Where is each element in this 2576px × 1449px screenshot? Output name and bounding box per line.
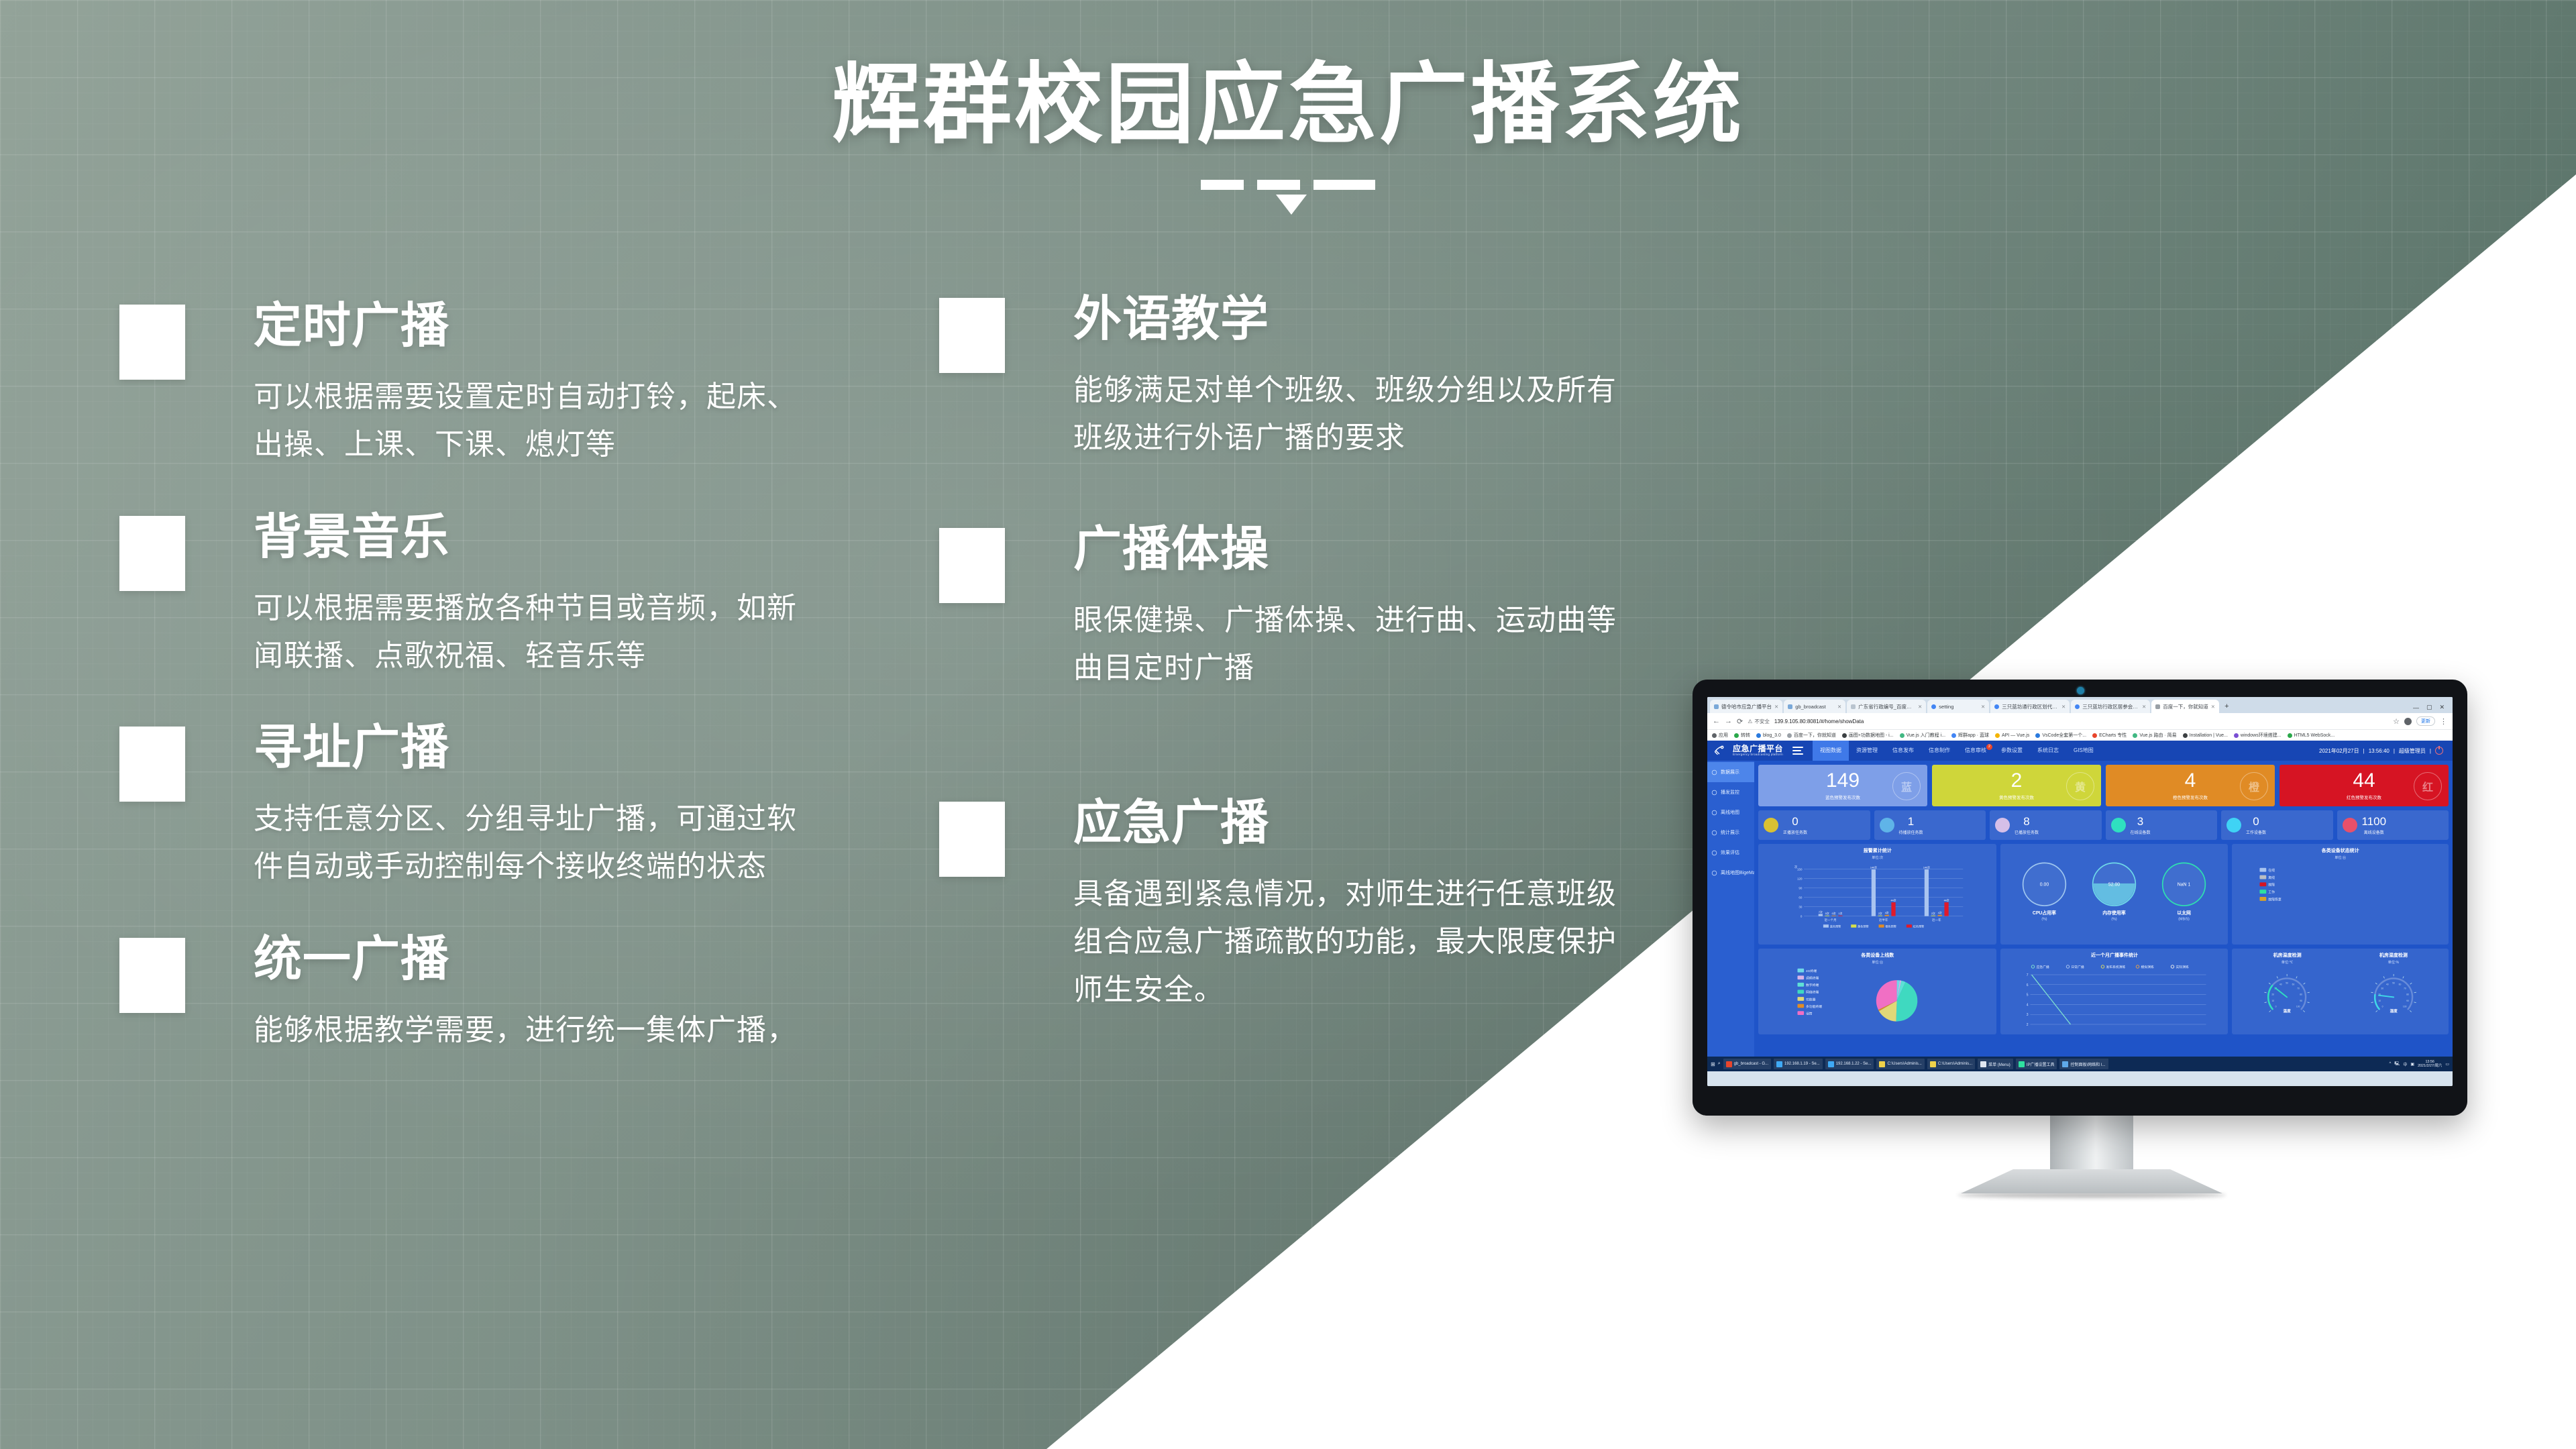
svg-text:(%): (%)	[2042, 917, 2047, 921]
bookmark-item[interactable]: 应用	[1712, 732, 1728, 739]
bookmark-favicon-icon	[1734, 733, 1739, 738]
feature-item: 应急广播 具备遇到紧急情况，对师生进行任意班级组合应急广播疏散的功能，最大限度保…	[939, 792, 1711, 1014]
svg-text:5: 5	[2027, 994, 2029, 998]
windows-taskbar: ⊞ ⌕ gb_broadcast - G...192.168.1.19 - Se…	[1707, 1057, 2453, 1071]
tab-close-icon[interactable]: ✕	[2061, 704, 2065, 710]
tray-app-icon[interactable]: ▣	[2410, 1062, 2414, 1067]
bullet-square-icon	[939, 298, 1005, 373]
ime-indicator[interactable]: 中	[2403, 1061, 2407, 1067]
tab-label: 广东省行政编号_百度搜索	[1858, 703, 1915, 710]
svg-text:0: 0	[2275, 1006, 2277, 1008]
bookmark-label: Vue.js 入门教程 i...	[1907, 732, 1945, 739]
kpi-label: 红色预警发布次数	[2347, 794, 2381, 800]
svg-text:调频终端: 调频终端	[1806, 976, 1819, 981]
svg-text:80: 80	[2406, 993, 2409, 996]
tab-label: gb_broadcast	[1795, 704, 1835, 710]
power-icon[interactable]	[2435, 747, 2443, 755]
taskbar-item-icon	[1930, 1061, 1936, 1067]
search-icon[interactable]: ⌕	[1718, 1061, 1721, 1067]
svg-text:4G终端: 4G终端	[1806, 969, 1817, 973]
mini-stat-text: 3在线设备数	[2131, 816, 2151, 835]
brand-name-cn: 应急广播平台	[1733, 745, 1783, 753]
taskbar-item-label: C:\Users\Adminis...	[1938, 1062, 1972, 1066]
bookmark-label: 辉群app · 蓝球	[1958, 732, 1989, 739]
divider-triangle-icon	[1276, 195, 1307, 215]
taskbar-item-label: IP广播设置工具	[2027, 1061, 2055, 1067]
forward-icon[interactable]: →	[1725, 717, 1732, 725]
svg-text:离线: 离线	[2269, 875, 2275, 880]
bookmark-label: Vue.js 路由 · 简易	[2139, 732, 2176, 739]
monitor-icon	[2111, 818, 2126, 833]
browser-tab[interactable]: 德令哈市应急广播平台 ✕	[1710, 700, 1782, 713]
clock-date: 2021/2/27/周六	[2418, 1064, 2442, 1068]
svg-text:2次: 2次	[1931, 912, 1935, 915]
svg-text:湿度: 湿度	[2390, 1008, 2398, 1014]
bar-chart-icon	[1711, 769, 1717, 775]
tab-label: 百度一下，你就知道	[2163, 703, 2208, 710]
hourglass-icon	[1880, 818, 1894, 833]
svg-text:日常广播: 日常广播	[2072, 965, 2084, 969]
mini-stat-label: 正播放任务数	[1783, 829, 1807, 835]
taskbar-item-icon	[1828, 1061, 1834, 1067]
svg-text:10: 10	[2272, 1000, 2275, 1002]
taskbar-item-label: 192.168.1.22 - Se...	[1836, 1062, 1872, 1066]
browser-tab[interactable]: gb_broadcast ✕	[1784, 700, 1845, 713]
nav-item[interactable]: 信息制作	[1921, 741, 1957, 761]
taskbar-item[interactable]: C:\Users\Adminis...	[1876, 1059, 1924, 1069]
update-button[interactable]: 更新	[2416, 716, 2435, 726]
feature-column-left: 定时广播 可以根据需要设置定时自动打铃，起床、出操、上课、下课、熄灯等 背景音乐…	[119, 295, 871, 1091]
svg-text:2: 2	[2027, 1023, 2029, 1027]
bookmark-favicon-icon	[1712, 733, 1717, 738]
bookmark-favicon-icon	[2133, 733, 2137, 738]
mini-stat-label: 待播放任务数	[1899, 829, 1923, 835]
svg-text:故障: 故障	[2269, 883, 2275, 888]
nav-item[interactable]: GIS地图	[2066, 741, 2101, 761]
svg-text:0次: 0次	[1825, 912, 1829, 915]
bookmark-item[interactable]: API — Vue.js	[1995, 733, 2029, 738]
nav-item[interactable]: 系统日志	[2030, 741, 2066, 761]
svg-text:0次: 0次	[1832, 912, 1836, 915]
browser-tab[interactable]: setting ✕	[1927, 700, 1989, 713]
svg-text:50: 50	[2392, 982, 2395, 985]
bullet-square-icon	[119, 938, 185, 1013]
taskbar-item[interactable]: IP广播设置工具	[2016, 1059, 2057, 1069]
month-events-panel: 近一个月广播事件统计 234567应急广播日常广播发布系统演练模拟演练实际演练	[2000, 949, 2228, 1034]
kpi-card[interactable]: 4橙色预警发布次数橙	[2106, 765, 2275, 806]
svg-text:149次: 149次	[1870, 865, 1877, 869]
divider-dash-2	[1257, 180, 1300, 190]
bookmark-favicon-icon	[2092, 733, 2097, 738]
browser-tab[interactable]: 广东省行政编号_百度搜索 ✕	[1847, 700, 1926, 713]
svg-text:4次: 4次	[1885, 911, 1889, 914]
svg-text:(MB/S): (MB/S)	[2179, 917, 2190, 921]
bookmark-label: 转转	[1741, 732, 1750, 739]
bookmark-favicon-icon	[1900, 733, 1904, 738]
feature-title: 寻址广播	[254, 717, 871, 777]
panel-title: 报警累计统计	[1762, 847, 1993, 854]
svg-text:52.00: 52.00	[2108, 882, 2120, 887]
nav-item[interactable]: 视图数据	[1813, 741, 1849, 761]
favicon-icon	[1714, 704, 1719, 709]
security-label: 不安全	[1754, 718, 1770, 725]
svg-text:故障恢复: 故障恢复	[2269, 897, 2282, 902]
svg-text:0: 0	[2381, 1006, 2383, 1008]
svg-text:(%): (%)	[2112, 917, 2117, 921]
favicon-icon	[1788, 704, 1792, 709]
sidebar-item-label: 播发监控	[1721, 789, 1739, 796]
tray-expand-icon[interactable]: ^	[2390, 1062, 2392, 1066]
panel-row-top: 报警累计统计 单位:次 次03060901201507次0次0次1次近一个月14…	[1758, 844, 2449, 945]
feature-title: 应急广播	[1073, 792, 1711, 853]
address-bar-url[interactable]: 139.9.105.80:8081/#/home/showData	[1774, 718, 1864, 724]
svg-text:网络终端: 网络终端	[1806, 990, 1819, 995]
mini-stat-value: 8	[2023, 816, 2029, 827]
notifications-icon[interactable]: ▭	[2445, 1062, 2449, 1067]
feature-description: 能够根据教学需要，进行统一集体广播，	[254, 1006, 810, 1054]
favicon-icon	[1851, 704, 1856, 709]
taskbar-item-label: C:\Users\Adminis...	[1887, 1062, 1921, 1066]
bookmark-item[interactable]: ECharts 专性	[2092, 732, 2127, 739]
feature-item: 背景音乐 可以根据需要播放各种节目或音频，如新闻联播、点歌祝福、轻音乐等	[119, 506, 871, 680]
browser-menu-icon[interactable]: ⋮	[2440, 717, 2447, 726]
browser-tab[interactable]: 三只蓝坊行政区居参会行政区划 ✕	[2071, 700, 2150, 713]
back-icon[interactable]: ←	[1713, 717, 1720, 725]
taskbar-item[interactable]: C:\Users\Adminis...	[1927, 1059, 1975, 1069]
svg-text:60: 60	[2292, 983, 2295, 986]
browser-tab[interactable]: 三只蓝坊通行政区划代码 三元素 ✕	[1990, 700, 2070, 713]
feature-title: 背景音乐	[254, 506, 871, 567]
mini-stat-card[interactable]: 1待播放任务数	[1874, 810, 1986, 840]
tab-close-icon[interactable]: ✕	[1981, 704, 1985, 710]
sidebar-item-label: 效果评估	[1721, 849, 1739, 856]
bookmark-label: API — Vue.js	[2002, 733, 2029, 738]
svg-text:90: 90	[2406, 1000, 2409, 1002]
feature-item: 定时广播 可以根据需要设置定时自动打铃，起床、出操、上课、下课、熄灯等	[119, 295, 871, 469]
svg-text:30: 30	[1799, 905, 1802, 908]
kpi-card[interactable]: 44红色预警发布次数红	[2279, 765, 2449, 806]
current-date: 2021年02月27日	[2319, 747, 2359, 755]
feature-title: 统一广播	[254, 928, 871, 989]
svg-text:7次: 7次	[1819, 910, 1823, 914]
device-status-panel: 各类设备状态统计 单位:台 在线离线故障工作故障恢复	[2232, 844, 2449, 945]
humidity-gauge: 0102030405060708090100湿度	[2342, 965, 2445, 1020]
maximize-icon[interactable]: ▢	[2426, 704, 2432, 711]
browser-tab-active[interactable]: 百度一下，你就知道 ✕	[2151, 700, 2219, 713]
feature-title: 外语教学	[1073, 288, 1711, 349]
webcam-icon	[2077, 687, 2084, 694]
browser-toolbar: ← → ⟳ ⚠ 不安全 139.9.105.80:8081/#/home/sho…	[1707, 713, 2453, 729]
svg-text:蓝色预警: 蓝色预警	[1830, 924, 1841, 928]
tab-close-icon[interactable]: ✕	[1918, 704, 1922, 710]
collapse-sidebar-icon[interactable]	[1792, 747, 1803, 755]
mini-stat-value: 0	[1792, 816, 1798, 827]
bookmark-item[interactable]: Vue.js 入门教程 i...	[1900, 732, 1945, 739]
taskbar-item[interactable]: 菜单 (Menu)	[1978, 1059, 2013, 1069]
poster-canvas: 辉群校园应急广播系统 定时广播 可以根据需要设置定时自动打铃，起床、出操、上课、…	[0, 0, 2576, 1449]
bullet-square-icon	[119, 305, 185, 380]
svg-text:近一个月: 近一个月	[1825, 918, 1837, 922]
bookmark-favicon-icon	[1951, 733, 1956, 738]
bookmark-star-icon[interactable]: ☆	[2393, 717, 2400, 726]
feature-item: 外语教学 能够满足对单个班级、班级分组以及所有班级进行外语广播的要求	[939, 288, 1711, 462]
bookmark-favicon-icon	[2035, 733, 2040, 738]
mini-stat-value: 3	[2137, 816, 2143, 827]
kpi-label: 蓝色预警发布次数	[1825, 794, 1860, 800]
svg-text:CPU占用率: CPU占用率	[2033, 910, 2056, 916]
bookmark-item[interactable]: VsCode全套第一个...	[2035, 732, 2086, 739]
mini-stat-label: 离线设备数	[2364, 829, 2384, 835]
bookmark-favicon-icon	[2183, 733, 2188, 738]
tab-close-icon[interactable]: ✕	[2211, 704, 2215, 710]
svg-text:10: 10	[2378, 1000, 2381, 1002]
tab-close-icon[interactable]: ✕	[2142, 704, 2146, 710]
device-status-pie-chart: 在线离线故障工作故障恢复	[2235, 860, 2445, 934]
svg-text:150: 150	[1797, 867, 1803, 871]
svg-text:橙色预警: 橙色预警	[1885, 924, 1896, 928]
sidebar-item[interactable]: 离线地图	[1707, 802, 1754, 822]
network-icon[interactable]: 🖳	[2394, 1061, 2400, 1067]
feature-description: 可以根据需要设置定时自动打铃，起床、出操、上课、下课、熄灯等	[254, 373, 810, 469]
panel-title: 各类设备状态统计	[2235, 847, 2445, 854]
svg-text:100: 100	[2403, 1006, 2407, 1008]
svg-text:90: 90	[1799, 886, 1802, 890]
mini-stat-text: 0正播放任务数	[1783, 816, 1807, 835]
taskbar-item-icon	[1879, 1061, 1885, 1067]
favicon-icon	[2155, 704, 2160, 709]
app-brand: 应急广播平台 Emergency broadcasting platform	[1733, 745, 1783, 756]
kpi-stamp-icon: 黄	[2066, 772, 2094, 800]
svg-text:60: 60	[1799, 896, 1802, 899]
mini-stat-text: 1100离线设备数	[2362, 816, 2387, 835]
taskbar-item[interactable]: gb_broadcast - G...	[1723, 1059, 1771, 1069]
mini-stat-label: 在线设备数	[2131, 829, 2151, 835]
sidebar-item[interactable]: 效果评估	[1707, 843, 1754, 863]
bookmark-label: ECharts 专性	[2099, 732, 2127, 739]
start-icon[interactable]: ⊞	[1711, 1061, 1715, 1067]
bookmark-item[interactable]: blog_3.0	[1756, 733, 1781, 738]
sidebar-item[interactable]: 离线地图BigeMap开发	[1707, 863, 1754, 883]
feature-title: 广播体操	[1073, 519, 1711, 579]
app-nav: 视图数据资源管理信息发布信息制作信息审核2参数设置系统日志GIS地图	[1813, 741, 2101, 761]
bookmark-item[interactable]: Installation | Vue...	[2183, 733, 2228, 738]
svg-text:90: 90	[2300, 1000, 2303, 1002]
taskbar-item-icon	[1726, 1061, 1732, 1067]
svg-text:60: 60	[2398, 983, 2401, 986]
svg-text:数字终端: 数字终端	[1806, 983, 1819, 987]
svg-text:应急广播: 应急广播	[2037, 965, 2049, 969]
feature-item: 统一广播 能够根据教学需要，进行统一集体广播，	[119, 928, 871, 1054]
bookmark-item[interactable]: 辉群app · 蓝球	[1951, 732, 1989, 739]
sidebar-item-label: 数据展示	[1721, 769, 1739, 775]
divider-dash-3	[1313, 180, 1375, 190]
svg-text:2次: 2次	[1878, 912, 1882, 915]
bookmark-item[interactable]: HTML5 WebSock...	[2288, 733, 2335, 738]
app-content: 149蓝色预警发布次数蓝2黄色预警发布次数黄4橙色预警发布次数橙44红色预警发布…	[1754, 761, 2453, 1071]
panel-subtitle: 单位:台	[1762, 960, 1993, 965]
reload-icon[interactable]: ⟳	[1737, 717, 1743, 726]
svg-text:红色预警: 红色预警	[1913, 924, 1925, 928]
taskbar-item[interactable]: 控制面板\网络和 I...	[2059, 1059, 2108, 1069]
svg-text:话筒: 话筒	[1806, 1011, 1813, 1016]
mini-stat-card[interactable]: 1100离线设备数	[2337, 810, 2449, 840]
taskbar-clock[interactable]: 13:56 2021/2/27/周六	[2418, 1060, 2442, 1068]
panel-title: 近一个月广播事件统计	[2004, 952, 2224, 959]
page-title: 辉群校园应急广播系统	[0, 60, 2576, 149]
kpi-value: 149	[1826, 771, 1860, 791]
sidebar-item[interactable]: 统计展示	[1707, 822, 1754, 843]
app-header: 应急广播平台 Emergency broadcasting platform 视…	[1707, 741, 2453, 761]
sidebar-item[interactable]: 数据展示	[1707, 762, 1754, 782]
panel-subtitle: 单位:台	[2235, 855, 2445, 860]
bookmark-item[interactable]: 画图+功数据地图 - i...	[1842, 732, 1894, 739]
taskbar-item-icon	[2019, 1061, 2025, 1067]
bookmark-label: VsCode全套第一个...	[2042, 732, 2086, 739]
kpi-value: 4	[2185, 771, 2196, 791]
tab-close-icon[interactable]: ✕	[1774, 704, 1778, 710]
mini-stat-value: 0	[2253, 816, 2259, 827]
camera-icon	[1711, 870, 1717, 876]
mini-stat-card[interactable]: 8已播放任务数	[1990, 810, 2102, 840]
svg-text:实际演练: 实际演练	[2176, 965, 2189, 969]
device-online-pie-chart: 4G终端调频终端数字终端网络终端功放器多功能终端话筒	[1762, 965, 1993, 1032]
bookmark-favicon-icon	[1756, 733, 1761, 738]
system-gauges-panel: 0.00CPU占用率(%)52.00内存使用率(%)NaN 1以太网(MB/S)	[2000, 844, 2228, 945]
separator: |	[2430, 748, 2431, 754]
kpi-card[interactable]: 149蓝色预警发布次数蓝	[1758, 765, 1927, 806]
bookmark-item[interactable]: 转转	[1734, 732, 1750, 739]
poster-header: 辉群校园应急广播系统	[0, 60, 2576, 200]
sidebar-item[interactable]: 播发监控	[1707, 782, 1754, 802]
bookmark-label: 画图+功数据地图 - i...	[1849, 732, 1894, 739]
svg-text:40: 40	[2386, 983, 2389, 986]
doc-check-icon	[2226, 818, 2241, 833]
svg-text:在线: 在线	[2269, 868, 2275, 873]
taskbar-item-label: 控制面板\网络和 I...	[2070, 1061, 2105, 1067]
taskbar-items: gb_broadcast - G...192.168.1.19 - Se...1…	[1723, 1059, 2108, 1069]
bookmark-label: Installation | Vue...	[2190, 733, 2228, 738]
security-indicator[interactable]: ⚠ 不安全	[1748, 718, 1770, 725]
svg-text:多功能终端: 多功能终端	[1806, 1004, 1822, 1009]
bookmark-favicon-icon	[2288, 733, 2292, 738]
svg-text:120: 120	[1797, 877, 1803, 880]
taskbar-item-label: 192.168.1.19 - Se...	[1784, 1062, 1820, 1066]
mini-stat-card[interactable]: 3在线设备数	[2106, 810, 2218, 840]
month-events-line-chart: 234567应急广播日常广播发布系统演练模拟演练实际演练	[2004, 960, 2224, 1030]
favicon-icon	[2075, 704, 2080, 709]
bookmark-item[interactable]: windows环境搭建...	[2234, 732, 2282, 739]
feature-description: 可以根据需要播放各种节目或音频，如新闻联播、点歌祝福、轻音乐等	[254, 584, 810, 680]
nav-item[interactable]: 信息发布	[1885, 741, 1921, 761]
bookmark-label: windows环境搭建...	[2241, 732, 2282, 739]
room-gauges-panel: 机房温度检测 单位:℃ 0102030405060708090100温度 机房湿…	[2232, 949, 2449, 1034]
kpi-stamp-icon: 蓝	[1892, 772, 1921, 800]
avatar[interactable]	[2404, 718, 2412, 725]
device-online-panel: 各类设备上线数 单位:台 4G终端调频终端数字终端网络终端功放器多功能终端话筒	[1758, 949, 1996, 1034]
mini-stat-value: 1100	[2362, 816, 2387, 827]
feature-description: 能够满足对单个班级、班级分组以及所有班级进行外语广播的要求	[1073, 366, 1637, 462]
taskbar-item[interactable]: 192.168.1.22 - Se...	[1825, 1059, 1874, 1069]
system-tray: ^ 🖳 中 ▣ 13:56 2021/2/27/周六 ▭	[2390, 1060, 2449, 1068]
headset-icon	[1711, 790, 1717, 796]
new-tab-button[interactable]: +	[2220, 700, 2233, 713]
bookmarks-bar: 应用转转blog_3.0百度一下，你就知道画图+功数据地图 - i...Vue.…	[1707, 729, 2453, 741]
svg-text:80: 80	[2300, 993, 2303, 996]
panel-title: 机房温度检测	[2235, 952, 2339, 959]
bullet-square-icon	[119, 516, 185, 591]
svg-text:44次: 44次	[1891, 898, 1896, 902]
bullet-square-icon	[119, 727, 185, 802]
separator: |	[2363, 748, 2365, 754]
bookmark-label: 百度一下，你就知道	[1794, 732, 1836, 739]
svg-text:工作: 工作	[2269, 890, 2275, 895]
box-icon	[1711, 830, 1717, 836]
bullet-square-icon	[939, 528, 1005, 603]
tab-label: 三只蓝坊通行政区划代码 三元素	[2002, 703, 2059, 710]
nav-item[interactable]: 资源管理	[1849, 741, 1885, 761]
taskbar-item[interactable]: 192.168.1.19 - Se...	[1774, 1059, 1823, 1069]
monitor-mockup: 德令哈市应急广播平台 ✕ gb_broadcast ✕ 广东省行政编号_百度搜索…	[1693, 680, 2491, 1283]
svg-text:黄色预警: 黄色预警	[1858, 924, 1869, 928]
bookmark-favicon-icon	[1995, 733, 2000, 738]
panel-title: 各类设备上线数	[1762, 952, 1993, 959]
mini-stat-card[interactable]: 0工作设备数	[2221, 810, 2333, 840]
panel-subtitle: 单位:℃	[2235, 960, 2339, 965]
nav-badge: 2	[1986, 744, 1992, 750]
title-divider	[1201, 180, 1375, 200]
tab-close-icon[interactable]: ✕	[1837, 704, 1841, 710]
mini-stat-label: 已播放任务数	[2015, 829, 2039, 835]
bookmark-label: 应用	[1719, 732, 1728, 739]
browser-tab-bar: 德令哈市应急广播平台 ✕ gb_broadcast ✕ 广东省行政编号_百度搜索…	[1707, 697, 2453, 713]
taskbar-item-icon	[2062, 1061, 2068, 1067]
kpi-label: 黄色预警发布次数	[1999, 794, 2034, 800]
svg-text:44次: 44次	[1944, 898, 1949, 902]
bullet-square-icon	[939, 802, 1005, 877]
bookmark-item[interactable]: 百度一下，你就知道	[1787, 732, 1836, 739]
svg-text:发布系统演练: 发布系统演练	[2106, 965, 2126, 969]
feature-description: 眼保健操、广播体操、进行曲、运动曲等曲目定时广播	[1073, 596, 1637, 692]
mini-stat-text: 1待播放任务数	[1899, 816, 1923, 835]
minimize-icon[interactable]: —	[2413, 704, 2419, 711]
brand-name-en: Emergency broadcasting platform	[1733, 753, 1783, 757]
close-icon[interactable]: ✕	[2439, 704, 2445, 711]
kpi-card[interactable]: 2黄色预警发布次数黄	[1932, 765, 2101, 806]
svg-text:30: 30	[2381, 987, 2383, 990]
pin-icon	[1711, 810, 1717, 816]
favicon-icon	[1994, 704, 1999, 709]
svg-text:内存使用率: 内存使用率	[2103, 910, 2127, 916]
window-controls[interactable]: — ▢ ✕	[2413, 704, 2450, 713]
bookmark-item[interactable]: Vue.js 路由 · 简易	[2133, 732, 2176, 739]
dashboard-app: 应急广播平台 Emergency broadcasting platform 视…	[1707, 741, 2453, 1071]
svg-text:NaN 1: NaN 1	[2178, 882, 2191, 887]
nav-item[interactable]: 信息审核2	[1957, 741, 1994, 761]
svg-text:近一年: 近一年	[1932, 918, 1941, 922]
panel-subtitle: 单位:%	[2342, 960, 2445, 965]
divider-dash-1	[1201, 180, 1244, 190]
temperature-gauge-block: 机房温度检测 单位:℃ 0102030405060708090100温度	[2235, 952, 2339, 1031]
system-liquid-gauges: 0.00CPU占用率(%)52.00内存使用率(%)NaN 1以太网(MB/S)	[2004, 847, 2224, 940]
feature-item: 广播体操 眼保健操、广播体操、进行曲、运动曲等曲目定时广播	[939, 519, 1711, 692]
mini-stat-card[interactable]: 0正播放任务数	[1758, 810, 1870, 840]
mini-stat-label: 工作设备数	[2246, 829, 2266, 835]
kpi-value: 2	[2011, 771, 2023, 791]
mini-stat-row: 0正播放任务数1待播放任务数8已播放任务数3在线设备数0工作设备数1100离线设…	[1758, 810, 2449, 840]
svg-text:模拟演练: 模拟演练	[2141, 965, 2154, 969]
nav-item[interactable]: 参数设置	[1994, 741, 2030, 761]
panel-subtitle: 单位:次	[1762, 855, 1993, 860]
